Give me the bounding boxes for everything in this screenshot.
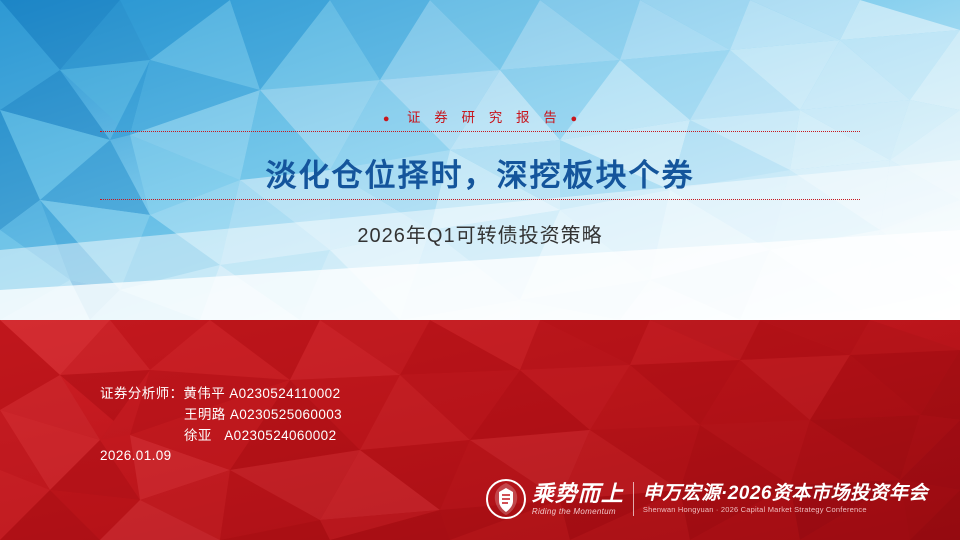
divider-top (100, 131, 860, 132)
analyst-row-2: 王明路 A0230525060003 (100, 404, 342, 425)
analyst-code-3: A0230524060002 (224, 428, 336, 443)
logo-divider (633, 482, 634, 516)
analyst-name-1: 黄伟平 (183, 386, 225, 401)
kicker-dot-left: ● (383, 113, 390, 125)
logo-brand-block: 申万宏源·2026资本市场投资年会 Shenwan Hongyuan · 202… (643, 483, 928, 515)
logo-brand-zh: 申万宏源·2026资本市场投资年会 (643, 483, 928, 505)
divider-bottom (100, 199, 860, 200)
analyst-row-3: 徐亚 A0230524060002 (100, 425, 342, 446)
logo-slogan-zh: 乘势而上 (532, 482, 624, 506)
analyst-block: 证券分析师：黄伟平 A0230524110002 王明路 A0230525060… (100, 383, 342, 446)
logo-slogan-en: Riding the Momentum (532, 506, 624, 517)
analyst-label: 证券分析师： (100, 383, 183, 404)
page-subtitle: 2026年Q1可转债投资策略 (0, 219, 960, 248)
presentation-cover-slide: ● 证 券 研 究 报 告 ● 淡化仓位择时，深挖板块个券 2026年Q1可转债… (0, 0, 960, 540)
kicker-label: 证 券 研 究 报 告 (407, 110, 562, 125)
analyst-name-3: 徐亚 (184, 428, 212, 443)
report-kicker-text: ● 证 券 研 究 报 告 ● (383, 106, 577, 126)
logo-slogan-block: 乘势而上 Riding the Momentum (532, 482, 624, 517)
shenwan-hongyuan-mark-icon (486, 479, 526, 519)
analyst-name-2: 王明路 (184, 407, 226, 422)
logo-brand-en: Shenwan Hongyuan · 2026 Capital Market S… (643, 505, 928, 515)
analyst-row-1: 证券分析师：黄伟平 A0230524110002 (100, 383, 342, 404)
report-kicker: ● 证 券 研 究 报 告 ● (0, 106, 960, 127)
page-title: 淡化仓位择时，深挖板块个券 (0, 150, 960, 195)
analyst-code-1: A0230524110002 (229, 386, 340, 401)
analyst-code-2: A0230525060003 (230, 407, 342, 422)
report-date: 2026.01.09 (100, 448, 172, 463)
conference-logo-lockup: 乘势而上 Riding the Momentum 申万宏源·2026资本市场投资… (486, 476, 928, 522)
kicker-dot-right: ● (571, 113, 578, 125)
